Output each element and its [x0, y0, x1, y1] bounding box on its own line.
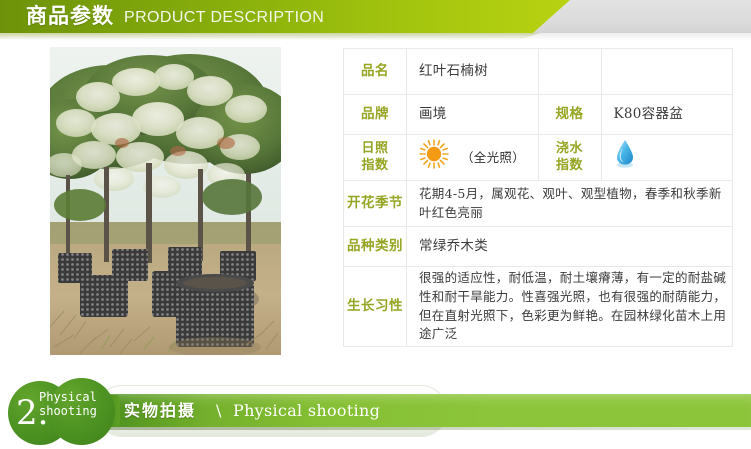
water-drop-icon — [614, 157, 636, 173]
spec-value-variety-category: 常绿乔木类 — [407, 227, 733, 267]
spec-label-sunlight-line2: 指数 — [344, 158, 406, 175]
spec-label-brand: 品牌 — [344, 95, 407, 135]
page-title-chinese: 商品参数 — [26, 2, 114, 31]
product-photo — [50, 47, 281, 355]
spec-label-specification: 规格 — [538, 95, 601, 135]
spec-value-watering-index — [601, 135, 733, 181]
spec-value-specification: K80容器盆 — [601, 95, 733, 135]
section-header: 商品参数 PRODUCT DESCRIPTION — [0, 0, 751, 40]
spec-label-flowering-season: 开花季节 — [344, 181, 407, 227]
spec-label-sunlight-index: 日照 指数 — [344, 135, 407, 181]
banner-separator: \ — [216, 397, 221, 424]
spec-value-empty — [601, 49, 733, 95]
banner-title-english: Physical shooting — [233, 397, 380, 424]
badge-english-line2: shooting — [39, 404, 97, 418]
product-photo-image — [50, 47, 281, 355]
spec-value-growth-habit: 很强的适应性，耐低温，耐土壤瘠薄，有一定的耐盐碱性和耐干旱能力。性喜强光照，也有… — [407, 267, 733, 347]
product-spec-table: 品名 红叶石楠树 品牌 画境 规格 K80容器盆 日照 指数 — [343, 48, 733, 347]
badge-english-line1: Physical — [39, 390, 97, 404]
spec-value-sunlight-text: （全光照） — [461, 148, 525, 167]
table-row: 日照 指数 — [344, 135, 733, 181]
spec-label-sunlight-line1: 日照 — [344, 141, 406, 158]
spec-value-brand: 画境 — [407, 95, 539, 135]
table-row: 品牌 画境 规格 K80容器盆 — [344, 95, 733, 135]
spec-label-product-name: 品名 — [344, 49, 407, 95]
spec-label-empty — [538, 49, 601, 95]
banner-green-bar-shadow — [103, 427, 751, 430]
table-row: 品名 红叶石楠树 — [344, 49, 733, 95]
section-number-badge: 2. Physical shooting — [6, 378, 124, 449]
spec-label-growth-habit: 生长习性 — [344, 267, 407, 347]
banner-title-chinese: 实物拍摄 — [124, 397, 196, 424]
table-row: 品种类别 常绿乔木类 — [344, 227, 733, 267]
spec-label-watering-line2: 指数 — [539, 158, 601, 175]
page-title-english: PRODUCT DESCRIPTION — [124, 5, 324, 30]
section-banner-physical-shooting: 2. Physical shooting 实物拍摄 \ Physical sho… — [0, 378, 751, 449]
spec-value-flowering-season: 花期4-5月，属观花、观叶、观型植物，春季和秋季新叶红色亮丽 — [407, 181, 733, 227]
spec-label-variety-category: 品种类别 — [344, 227, 407, 267]
spec-value-sunlight-index: （全光照） — [407, 135, 539, 181]
spec-label-watering-index: 浇水 指数 — [538, 135, 601, 181]
header-green-shadow — [0, 33, 540, 40]
table-row: 开花季节 花期4-5月，属观花、观叶、观型植物，春季和秋季新叶红色亮丽 — [344, 181, 733, 227]
badge-english-label: Physical shooting — [39, 390, 97, 418]
sun-icon — [419, 139, 449, 176]
spec-value-product-name: 红叶石楠树 — [407, 49, 539, 95]
table-row: 生长习性 很强的适应性，耐低温，耐土壤瘠薄，有一定的耐盐碱性和耐干旱能力。性喜强… — [344, 267, 733, 347]
banner-green-bar — [103, 394, 751, 427]
spec-label-watering-line1: 浇水 — [539, 141, 601, 158]
